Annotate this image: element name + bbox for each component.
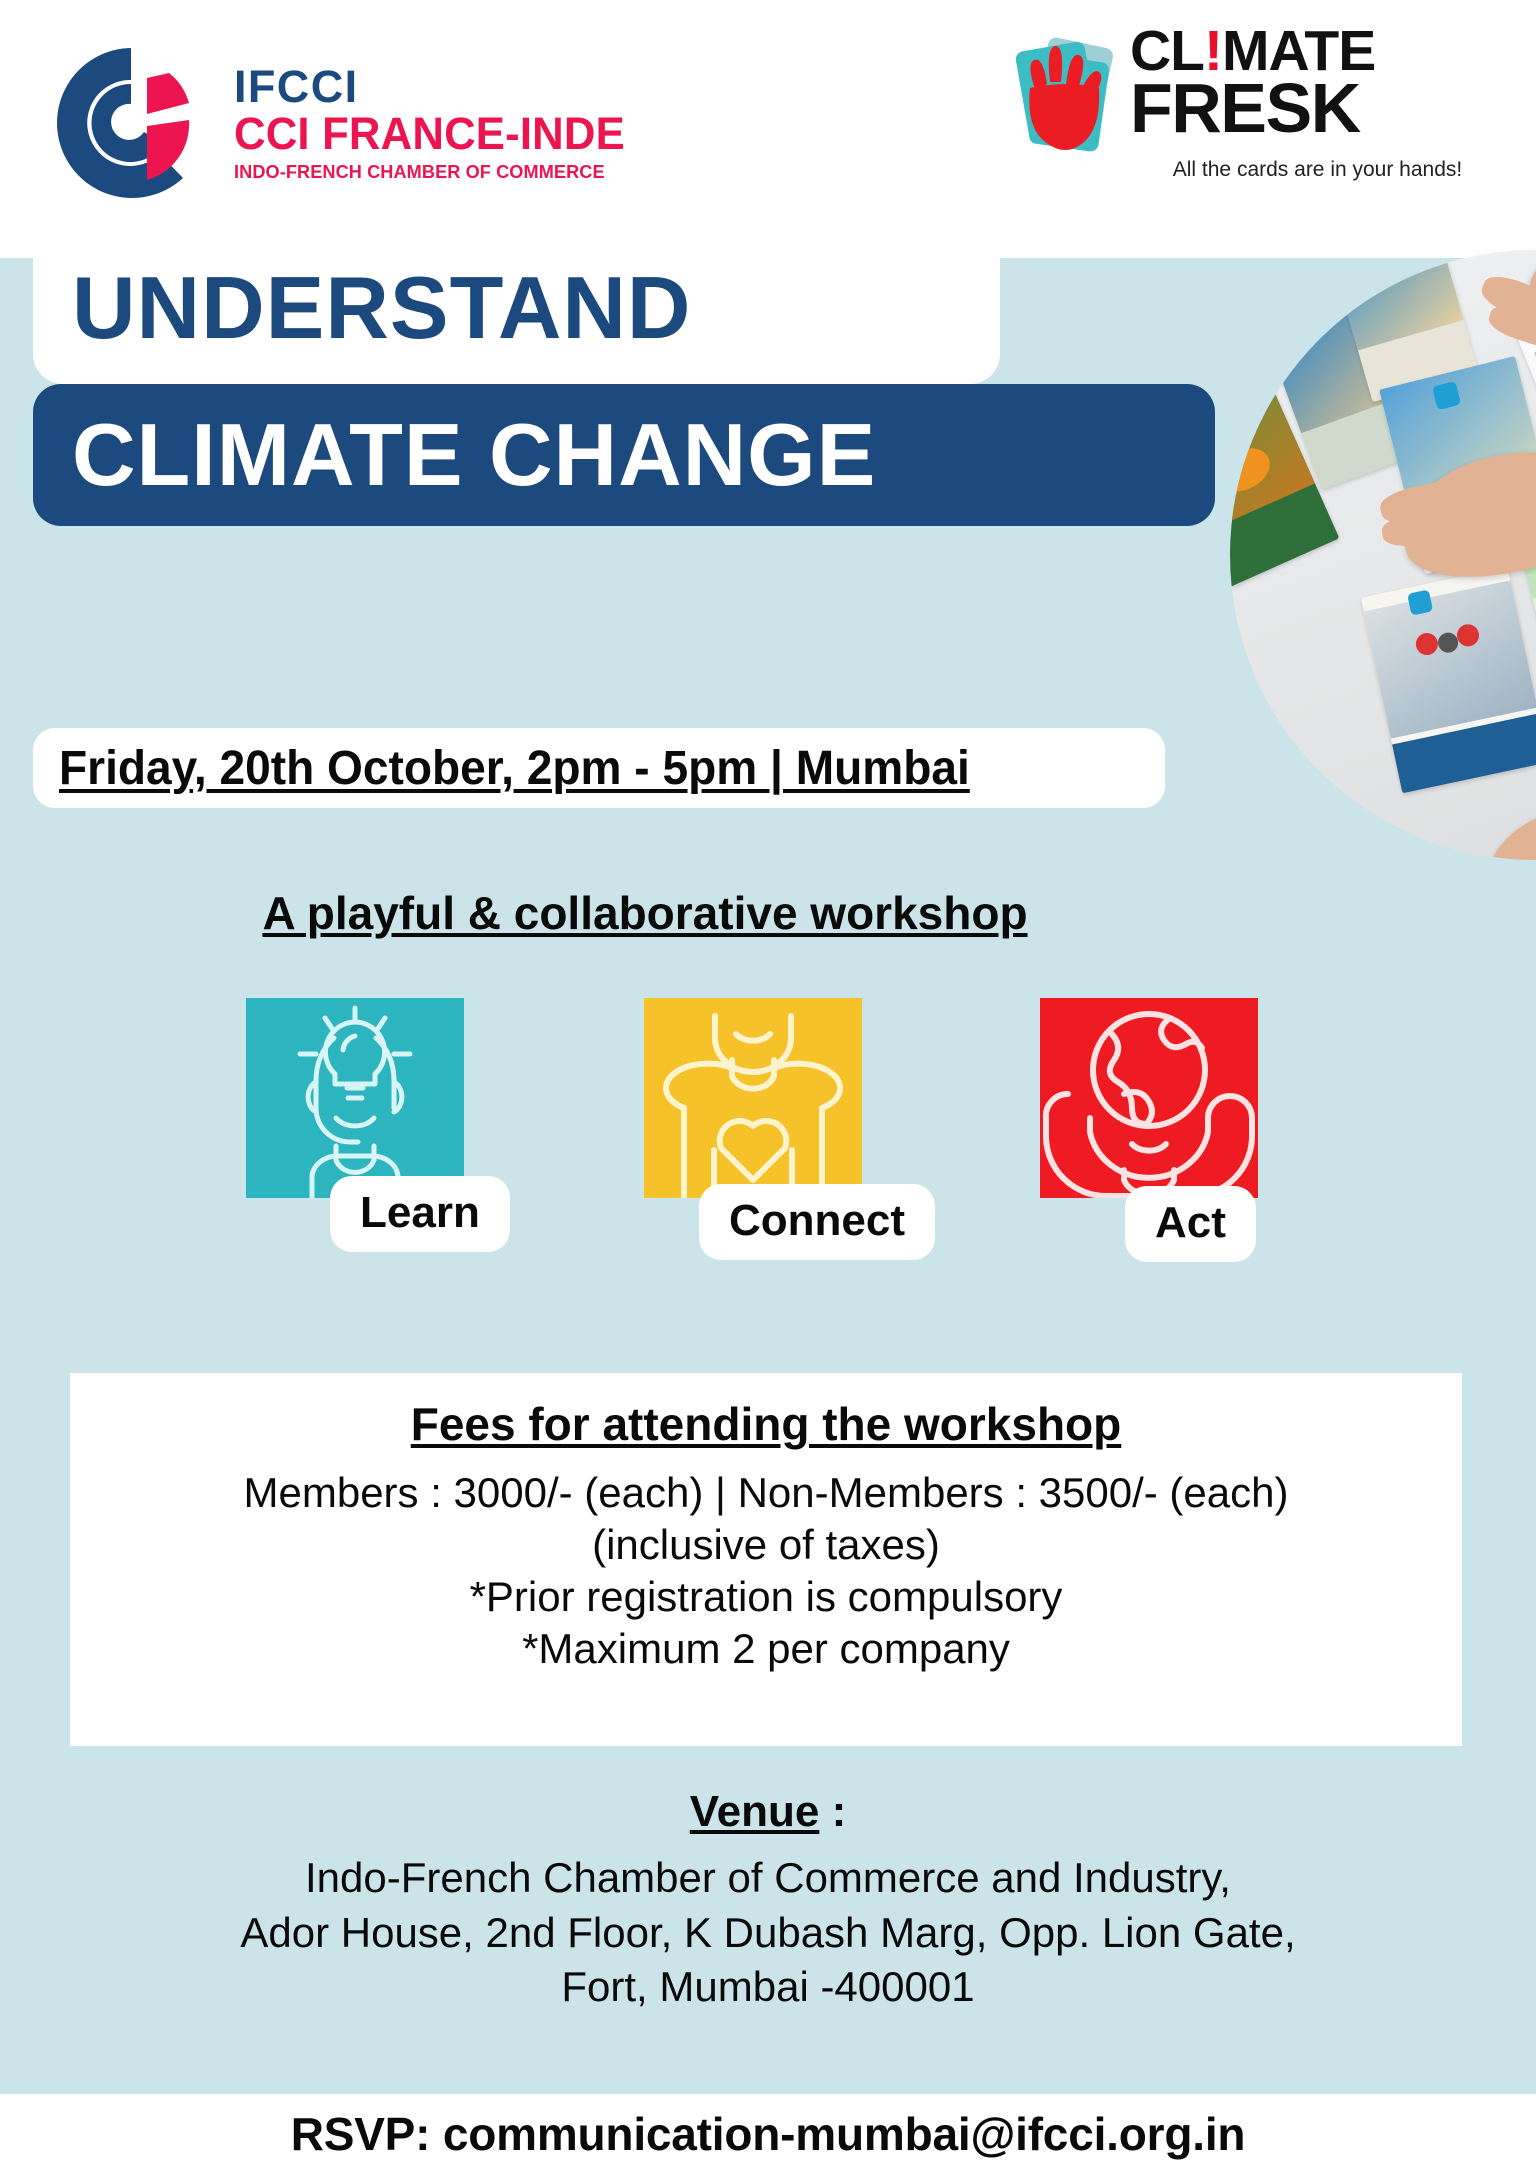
workshop-photo: [1230, 250, 1536, 860]
rsvp-email-text[interactable]: RSVP: communication-mumbai@ifcci.org.in: [291, 2107, 1246, 2161]
value-card-row: Learn Connect: [246, 998, 1296, 1298]
venue-heading-word: Venue: [690, 1787, 820, 1836]
value-card-connect-label: Connect: [699, 1184, 935, 1260]
ifcci-line2: CCI FRANCE-INDE: [234, 110, 661, 157]
venue-line-2: Ador House, 2nd Floor, K Dubash Marg, Op…: [0, 1906, 1536, 1961]
date-time-location-text: Friday, 20th October, 2pm - 5pm | Mumbai: [59, 741, 970, 796]
globe-in-hands-icon: [1040, 998, 1258, 1198]
person-heart-icon: [644, 998, 862, 1198]
value-card-connect: Connect: [644, 998, 862, 1198]
ifcci-logo-text: IFCCI CCI FRANCE-INDE INDO-FRENCH CHAMBE…: [234, 64, 674, 183]
workshop-subtitle-text: A playful & collaborative workshop: [262, 887, 1027, 939]
value-card-act-label: Act: [1125, 1186, 1256, 1262]
ifcci-c-monogram-icon: [48, 40, 214, 206]
ifcci-line1: IFCCI: [234, 64, 674, 110]
climate-fresk-tagline: All the cards are in your hands!: [1130, 158, 1505, 182]
head-lightbulb-icon: [246, 998, 464, 1198]
fees-line-3: *Prior registration is compulsory: [70, 1571, 1462, 1623]
title-understand: UNDERSTAND: [33, 232, 1000, 384]
value-card-act: Act: [1040, 998, 1258, 1198]
venue-heading: Venue :: [690, 1787, 847, 1837]
value-card-learn: Learn: [246, 998, 464, 1198]
value-card-learn-label: Learn: [330, 1176, 510, 1252]
header-bar: IFCCI CCI FRANCE-INDE INDO-FRENCH CHAMBE…: [0, 0, 1536, 258]
fees-line-2: (inclusive of taxes): [70, 1519, 1462, 1571]
title-line2-text: CLIMATE CHANGE: [72, 404, 876, 506]
workshop-subtitle: A playful & collaborative workshop: [0, 886, 1290, 940]
fees-line-4: *Maximum 2 per company: [70, 1623, 1462, 1675]
title-line1-text: UNDERSTAND: [72, 257, 691, 359]
climate-fresk-hand-cards-icon: [1000, 30, 1130, 170]
date-time-location-box: Friday, 20th October, 2pm - 5pm | Mumbai: [33, 728, 1165, 808]
cf-line2: FRESK: [1130, 78, 1490, 140]
fees-panel-title: Fees for attending the workshop: [411, 1397, 1122, 1451]
poster-canvas: IFCCI CCI FRANCE-INDE INDO-FRENCH CHAMBE…: [0, 0, 1536, 2173]
ifcci-logo: IFCCI CCI FRANCE-INDE INDO-FRENCH CHAMBE…: [48, 28, 688, 218]
venue-line-3: Fort, Mumbai -400001: [0, 1960, 1536, 2015]
venue-heading-suffix: :: [819, 1787, 846, 1836]
title-climate-change: CLIMATE CHANGE: [33, 384, 1215, 526]
venue-line-1: Indo-French Chamber of Commerce and Indu…: [0, 1851, 1536, 1906]
climate-fresk-logo: CL ! MATE FRESK All the cards are in you…: [1000, 20, 1500, 240]
climate-fresk-wordmark: CL ! MATE FRESK: [1130, 26, 1490, 140]
rsvp-strip: RSVP: communication-mumbai@ifcci.org.in: [0, 2094, 1536, 2173]
fees-panel: Fees for attending the workshop Members …: [70, 1373, 1462, 1746]
venue-section: Venue : Indo-French Chamber of Commerce …: [0, 1787, 1536, 2015]
ifcci-line3: INDO-FRENCH CHAMBER OF COMMERCE: [234, 161, 665, 183]
fees-line-1: Members : 3000/- (each) | Non-Members : …: [70, 1467, 1462, 1519]
